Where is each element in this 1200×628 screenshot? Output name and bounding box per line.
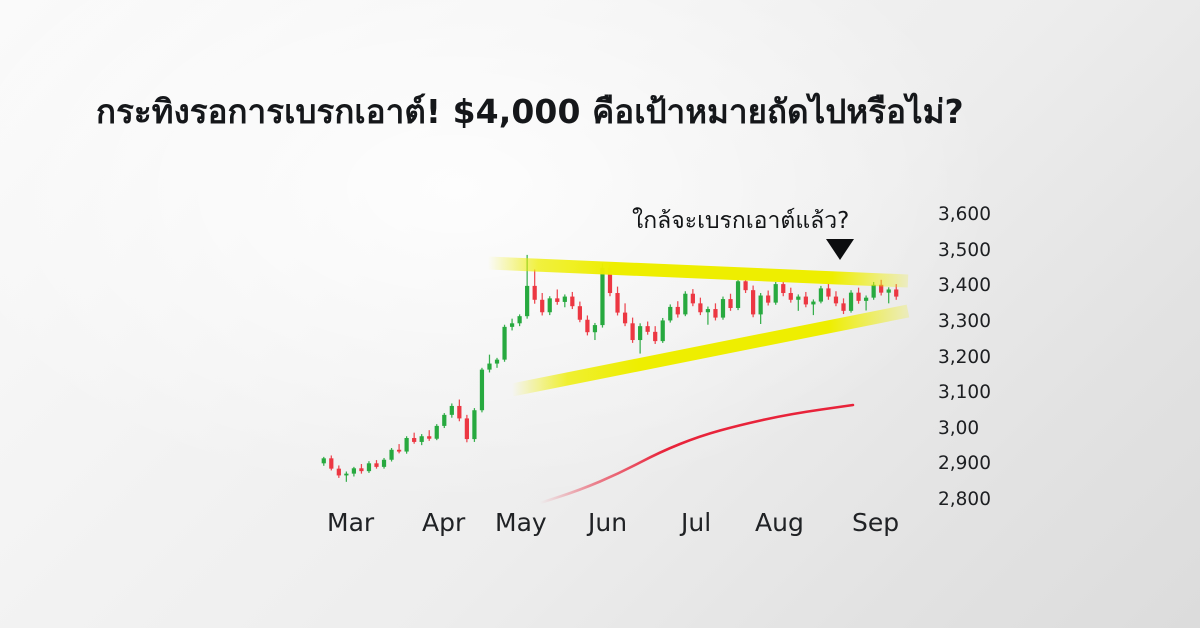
candle-body [826, 288, 830, 296]
candle-body [495, 360, 499, 364]
candle-body [397, 450, 401, 452]
candle-body [578, 306, 582, 320]
candle-body [759, 296, 763, 315]
candle-body [728, 299, 732, 308]
candle-body [518, 316, 522, 323]
candle-body [683, 294, 687, 315]
price-chart: 2,8002,9003,003,1003,2003,3003,4003,5003… [0, 0, 1200, 628]
infographic-canvas: กระทิงรอการเบรกเอาต์! $4,000 คือเป้าหมาย… [0, 0, 1200, 628]
x-axis-tick: Apr [422, 508, 465, 537]
candle-body [510, 323, 514, 327]
candle-body [706, 309, 710, 312]
candle-body [781, 284, 785, 293]
candle-body [721, 299, 725, 318]
candle-body [887, 289, 891, 292]
wedge-support [512, 311, 908, 390]
candle-body [337, 469, 341, 476]
moving-average-path [540, 405, 853, 503]
candle-body [480, 370, 484, 411]
candle-body [465, 418, 469, 439]
candle-body [676, 307, 680, 314]
candle-body [736, 281, 740, 308]
candle-body [352, 468, 356, 473]
candle-body [382, 460, 386, 467]
candle-body [668, 307, 672, 321]
candle-body [856, 293, 860, 301]
candle-body [691, 294, 695, 304]
candle-body [405, 438, 409, 452]
moving-average-line [540, 405, 853, 503]
y-axis-tick: 3,100 [938, 382, 991, 403]
candle-body [864, 298, 868, 301]
candle-body [344, 474, 348, 476]
candle-body [743, 281, 747, 290]
candle-body [585, 320, 589, 332]
candle-body [472, 410, 476, 439]
candle-body [819, 288, 823, 301]
candle-body [427, 436, 431, 438]
y-axis-tick: 2,900 [938, 453, 991, 474]
candle-body [766, 296, 770, 303]
candle-body [548, 298, 552, 312]
candle-body [774, 284, 778, 303]
candle-body [563, 297, 567, 302]
candle-body [834, 297, 838, 304]
wedge-trendlines [488, 263, 908, 390]
candle-body [435, 426, 439, 439]
candle-body [322, 458, 326, 463]
x-axis-tick: Aug [755, 508, 804, 537]
candle-body [894, 289, 898, 296]
y-axis-tick: 3,500 [938, 240, 991, 261]
candle-body [713, 309, 717, 318]
candle-body [502, 327, 506, 360]
candle-body [849, 293, 853, 311]
candle-body [533, 286, 537, 300]
candle-body [646, 326, 650, 332]
candle-body [374, 463, 378, 467]
y-axis-tick: 3,400 [938, 275, 991, 296]
y-axis-tick: 2,800 [938, 489, 991, 510]
candle-body [600, 268, 604, 325]
y-axis-tick: 3,300 [938, 311, 991, 332]
down-triangle-icon [826, 239, 854, 260]
candle-body [811, 302, 815, 305]
candle-body [804, 297, 808, 305]
wedge-resistance [488, 263, 908, 281]
candle-body [329, 458, 333, 468]
candle-body [623, 313, 627, 324]
x-axis-tick: Mar [327, 508, 374, 537]
candle-body [359, 468, 363, 471]
candle-body [630, 323, 634, 340]
candle-body [661, 320, 665, 341]
breakout-annotation: ใกล้จะเบรกเอาต์แล้ว? [632, 203, 849, 239]
candle-body [367, 463, 371, 471]
x-axis-tick: Sep [852, 508, 899, 537]
candle-body [457, 406, 461, 418]
candle-body [570, 297, 574, 307]
candle-body [796, 297, 800, 300]
y-axis-tick: 3,00 [938, 418, 979, 439]
x-axis-tick: Jun [588, 508, 627, 537]
candle-body [615, 293, 619, 313]
candle-body [751, 290, 755, 314]
candle-body [698, 303, 702, 312]
candle-body [487, 364, 491, 370]
candle-body [789, 293, 793, 300]
candle-body [653, 332, 657, 341]
y-axis-tick: 3,600 [938, 204, 991, 225]
candle-body [593, 325, 597, 332]
candle-body [555, 298, 559, 302]
candle-body [450, 406, 454, 415]
x-axis-tick: Jul [681, 508, 711, 537]
y-axis-tick: 3,200 [938, 347, 991, 368]
candle-body [442, 415, 446, 426]
candle-body [638, 326, 642, 340]
candle-body [412, 438, 416, 442]
candle-body [872, 285, 876, 298]
candle-body [540, 300, 544, 312]
candle-body [841, 303, 845, 310]
candle-body [420, 436, 424, 442]
x-axis-tick: May [495, 508, 547, 537]
candle-body [389, 450, 393, 460]
candle-body [525, 286, 529, 316]
